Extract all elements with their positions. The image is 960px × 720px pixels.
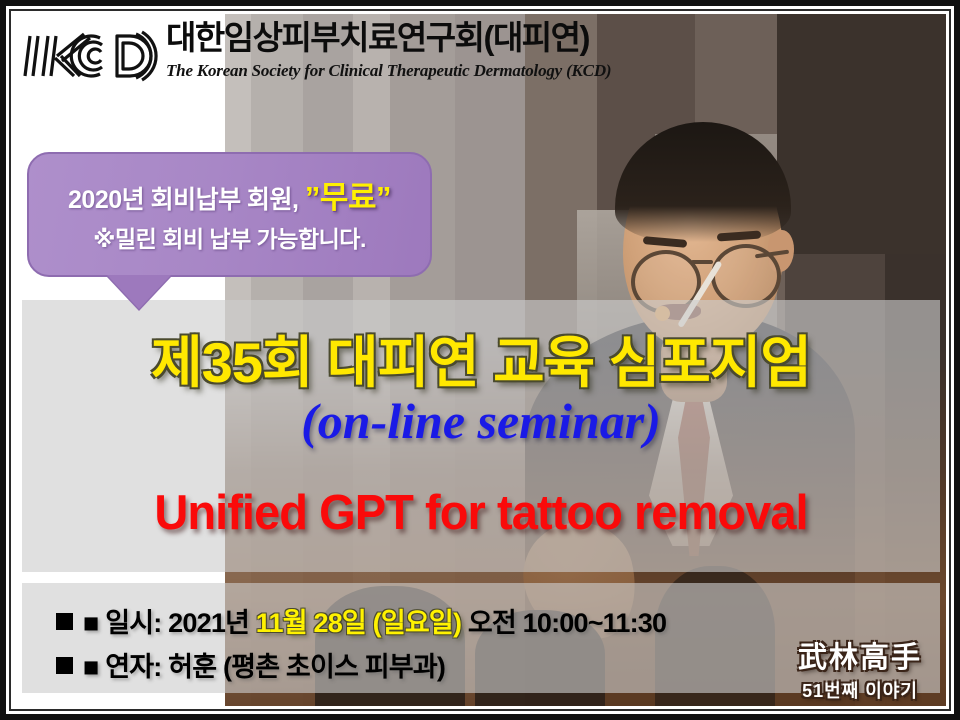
seminar-title: 제35회 대피연 교육 심포지엄 <box>22 318 940 399</box>
poster-header: 대한임상피부치료연구회(대피연) The Korean Society for … <box>14 14 946 94</box>
callout-quote-close: ” <box>376 180 391 215</box>
bullet-square-icon <box>56 657 73 674</box>
event-date-highlight: 11월 28일 (일요일) <box>256 608 461 638</box>
series-stamp: 武林高手 51번째 이야기 <box>798 634 922 703</box>
speaker-line: ■ 연자: 허훈 (평촌 초이스 피부과) <box>56 645 445 684</box>
society-name-korean: 대한임상피부치료연구회(대피연) <box>166 16 611 60</box>
series-stamp-subtitle: 51번째 이야기 <box>798 677 922 703</box>
callout-line-1: 2020년 회비납부 회원, ”무료” <box>27 172 432 217</box>
speaker-name-label: ■ 연자: 허훈 (평촌 초이스 피부과) <box>83 652 445 682</box>
seminar-subtitle: (on-line seminar) <box>22 392 940 450</box>
callout-free-highlight: 무료 <box>320 180 376 215</box>
event-date-label: ■ 일시: 2021년 <box>83 608 256 638</box>
membership-callout: 2020년 회비납부 회원, ”무료” ※밀린 회비 납부 가능합니다. <box>27 152 432 277</box>
event-time: 오전 10:00~11:30 <box>461 608 666 638</box>
kcd-logo <box>22 24 162 86</box>
poster-canvas: 대한임상피부치료연구회(대피연) The Korean Society for … <box>0 0 960 720</box>
callout-line-1-prefix: 2020년 회비납부 회원, <box>68 186 305 214</box>
callout-tail <box>107 275 171 309</box>
seminar-topic: Unified GPT for tattoo removal <box>40 485 921 541</box>
title-band: 제35회 대피연 교육 심포지엄 (on-line seminar) Unifi… <box>22 300 940 572</box>
series-stamp-title: 武林高手 <box>798 634 922 676</box>
bullet-square-icon <box>56 613 73 630</box>
header-titles: 대한임상피부치료연구회(대피연) The Korean Society for … <box>166 16 611 82</box>
society-name-english: The Korean Society for Clinical Therapeu… <box>166 60 611 82</box>
glasses-bridge <box>691 260 713 264</box>
callout-line-2: ※밀린 회비 납부 가능합니다. <box>27 220 432 254</box>
callout-quote-open: ” <box>305 180 320 215</box>
event-datetime-line: ■ 일시: 2021년 11월 28일 (일요일) 오전 10:00~11:30 <box>56 601 666 640</box>
